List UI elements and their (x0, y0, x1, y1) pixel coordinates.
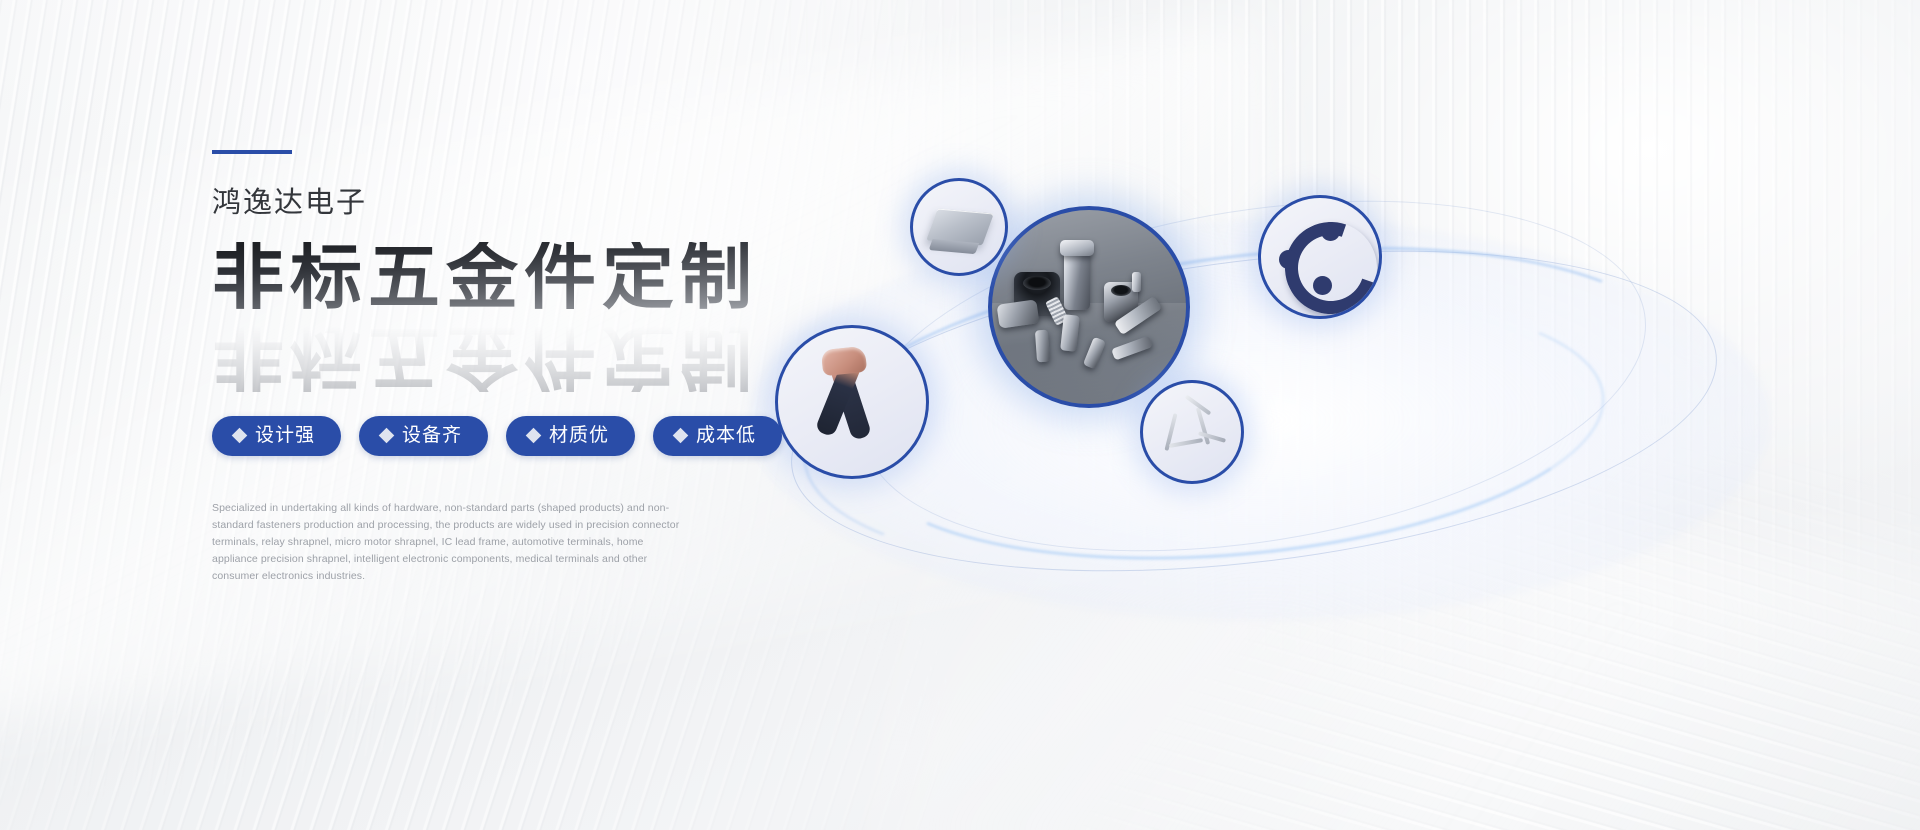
feature-pill-label: 成本低 (696, 426, 756, 445)
feature-pill-label: 设计强 (255, 426, 315, 445)
showcase-bubble-enclosure-box[interactable] (910, 178, 1008, 276)
diamond-icon (673, 428, 689, 444)
bent-wire-parts-photo (1143, 383, 1241, 481)
retaining-ring-photo (1261, 198, 1379, 316)
company-description: Specialized in undertaking all kinds of … (212, 500, 682, 585)
feature-pill-label: 设备齐 (402, 426, 462, 445)
hero-banner: 鸿逸达电子 非标五金件定制 非标五金件定制 设计强 设备齐 材质优 成本低 (0, 0, 1920, 830)
accent-rule (212, 150, 292, 154)
headline-group: 非标五金件定制 非标五金件定制 (212, 242, 912, 374)
brand-name: 鸿逸达电子 (212, 188, 912, 220)
page-title: 非标五金件定制 (212, 242, 758, 314)
diamond-icon (379, 428, 395, 444)
feature-pill-label: 材质优 (549, 426, 609, 445)
hero-text-column: 鸿逸达电子 非标五金件定制 非标五金件定制 设计强 设备齐 材质优 成本低 (212, 150, 912, 595)
retaining-ring-lug (1313, 276, 1332, 295)
part-plug-pin-b (1035, 330, 1050, 363)
feature-pill-cost[interactable]: 成本低 (653, 416, 782, 456)
part-contact-pin (1132, 272, 1141, 292)
feature-pill-equipment[interactable]: 设备齐 (359, 416, 488, 456)
wire-segment (1169, 438, 1203, 448)
part-cylinder-cap (1060, 240, 1094, 256)
feature-pill-design[interactable]: 设计强 (212, 416, 341, 456)
diamond-icon (526, 428, 542, 444)
retaining-ring-lug (1321, 222, 1340, 241)
showcase-bubble-retaining-ring[interactable] (1258, 195, 1382, 319)
page-title-reflection: 非标五金件定制 (212, 320, 758, 392)
part-cylinder-tall (1064, 250, 1090, 310)
showcase-bubble-machined-parts[interactable] (988, 206, 1190, 408)
machined-metal-parts-photo (992, 210, 1186, 404)
showcase-bubble-bent-wire[interactable] (1140, 380, 1244, 484)
enclosure-box-shape (926, 208, 994, 245)
metal-enclosure-box-photo (913, 181, 1005, 273)
retaining-ring-lug (1279, 250, 1298, 269)
feature-pill-material[interactable]: 材质优 (506, 416, 635, 456)
feature-pill-list: 设计强 设备齐 材质优 成本低 (212, 416, 912, 456)
diamond-icon (232, 428, 248, 444)
